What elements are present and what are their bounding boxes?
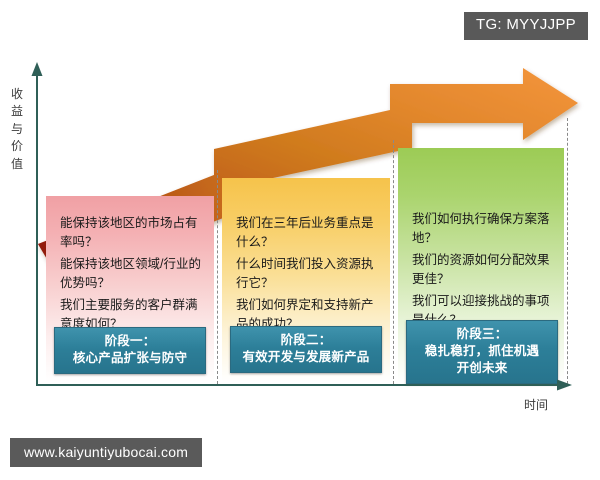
watermark-url: www.kaiyuntiyubocai.com: [10, 438, 202, 467]
stage-panel-2-questions: 我们在三年后业务重点是什么？ 什么时间我们投入资源执行它？ 我们如何界定和支持新…: [236, 214, 382, 336]
stage-panel-2[interactable]: 我们在三年后业务重点是什么？ 什么时间我们投入资源执行它？ 我们如何界定和支持新…: [222, 178, 390, 382]
stage-panel-3-questions: 我们如何执行确保方案落地？ 我们的资源如何分配效果更佳？ 我们可以迎接挑战的事项…: [412, 210, 556, 332]
tg-badge: TG: MYYJJPP: [464, 12, 588, 40]
stage-3-button-line1: 阶段三：: [411, 326, 553, 343]
stage-2-question-2: 什么时间我们投入资源执行它？: [236, 255, 382, 294]
stage-2-button-line2: 有效开发与发展新产品: [235, 349, 377, 366]
stage-2-button-line1: 阶段二：: [235, 332, 377, 349]
x-axis-label: 时间: [524, 396, 548, 413]
stage-1-button-line2: 核心产品扩张与防守: [59, 350, 201, 367]
stage-panel-1[interactable]: 能保持该地区的市场占有率吗？ 能保持该地区领域/行业的优势吗？ 我们主要服务的客…: [46, 196, 214, 382]
stage-3-button[interactable]: 阶段三： 稳扎稳打，抓住机遇 开创未来: [406, 320, 558, 384]
stage-3-button-line2: 稳扎稳打，抓住机遇: [411, 343, 553, 360]
stage-divider-3: [567, 118, 568, 384]
stage-3-question-1: 我们如何执行确保方案落地？: [412, 210, 556, 249]
stage-1-question-2: 能保持该地区领域/行业的优势吗？: [60, 255, 206, 294]
diagram-canvas: 能保持该地区的市场占有率吗？ 能保持该地区领域/行业的优势吗？ 我们主要服务的客…: [0, 0, 600, 480]
stage-panel-3[interactable]: 我们如何执行确保方案落地？ 我们的资源如何分配效果更佳？ 我们可以迎接挑战的事项…: [398, 148, 564, 382]
stage-divider-2: [393, 140, 394, 384]
stage-panel-1-questions: 能保持该地区的市场占有率吗？ 能保持该地区领域/行业的优势吗？ 我们主要服务的客…: [60, 214, 206, 336]
stage-divider-1: [217, 170, 218, 384]
stage-2-question-1: 我们在三年后业务重点是什么？: [236, 214, 382, 253]
stage-2-button[interactable]: 阶段二： 有效开发与发展新产品: [230, 326, 382, 373]
stage-panels: 能保持该地区的市场占有率吗？ 能保持该地区领域/行业的优势吗？ 我们主要服务的客…: [0, 0, 600, 480]
stage-1-button-line1: 阶段一：: [59, 333, 201, 350]
stage-1-button[interactable]: 阶段一： 核心产品扩张与防守: [54, 327, 206, 374]
stage-3-question-2: 我们的资源如何分配效果更佳？: [412, 251, 556, 290]
stage-3-button-line3: 开创未来: [411, 360, 553, 377]
y-axis-label: 收益与价值: [8, 86, 26, 173]
stage-1-question-1: 能保持该地区的市场占有率吗？: [60, 214, 206, 253]
